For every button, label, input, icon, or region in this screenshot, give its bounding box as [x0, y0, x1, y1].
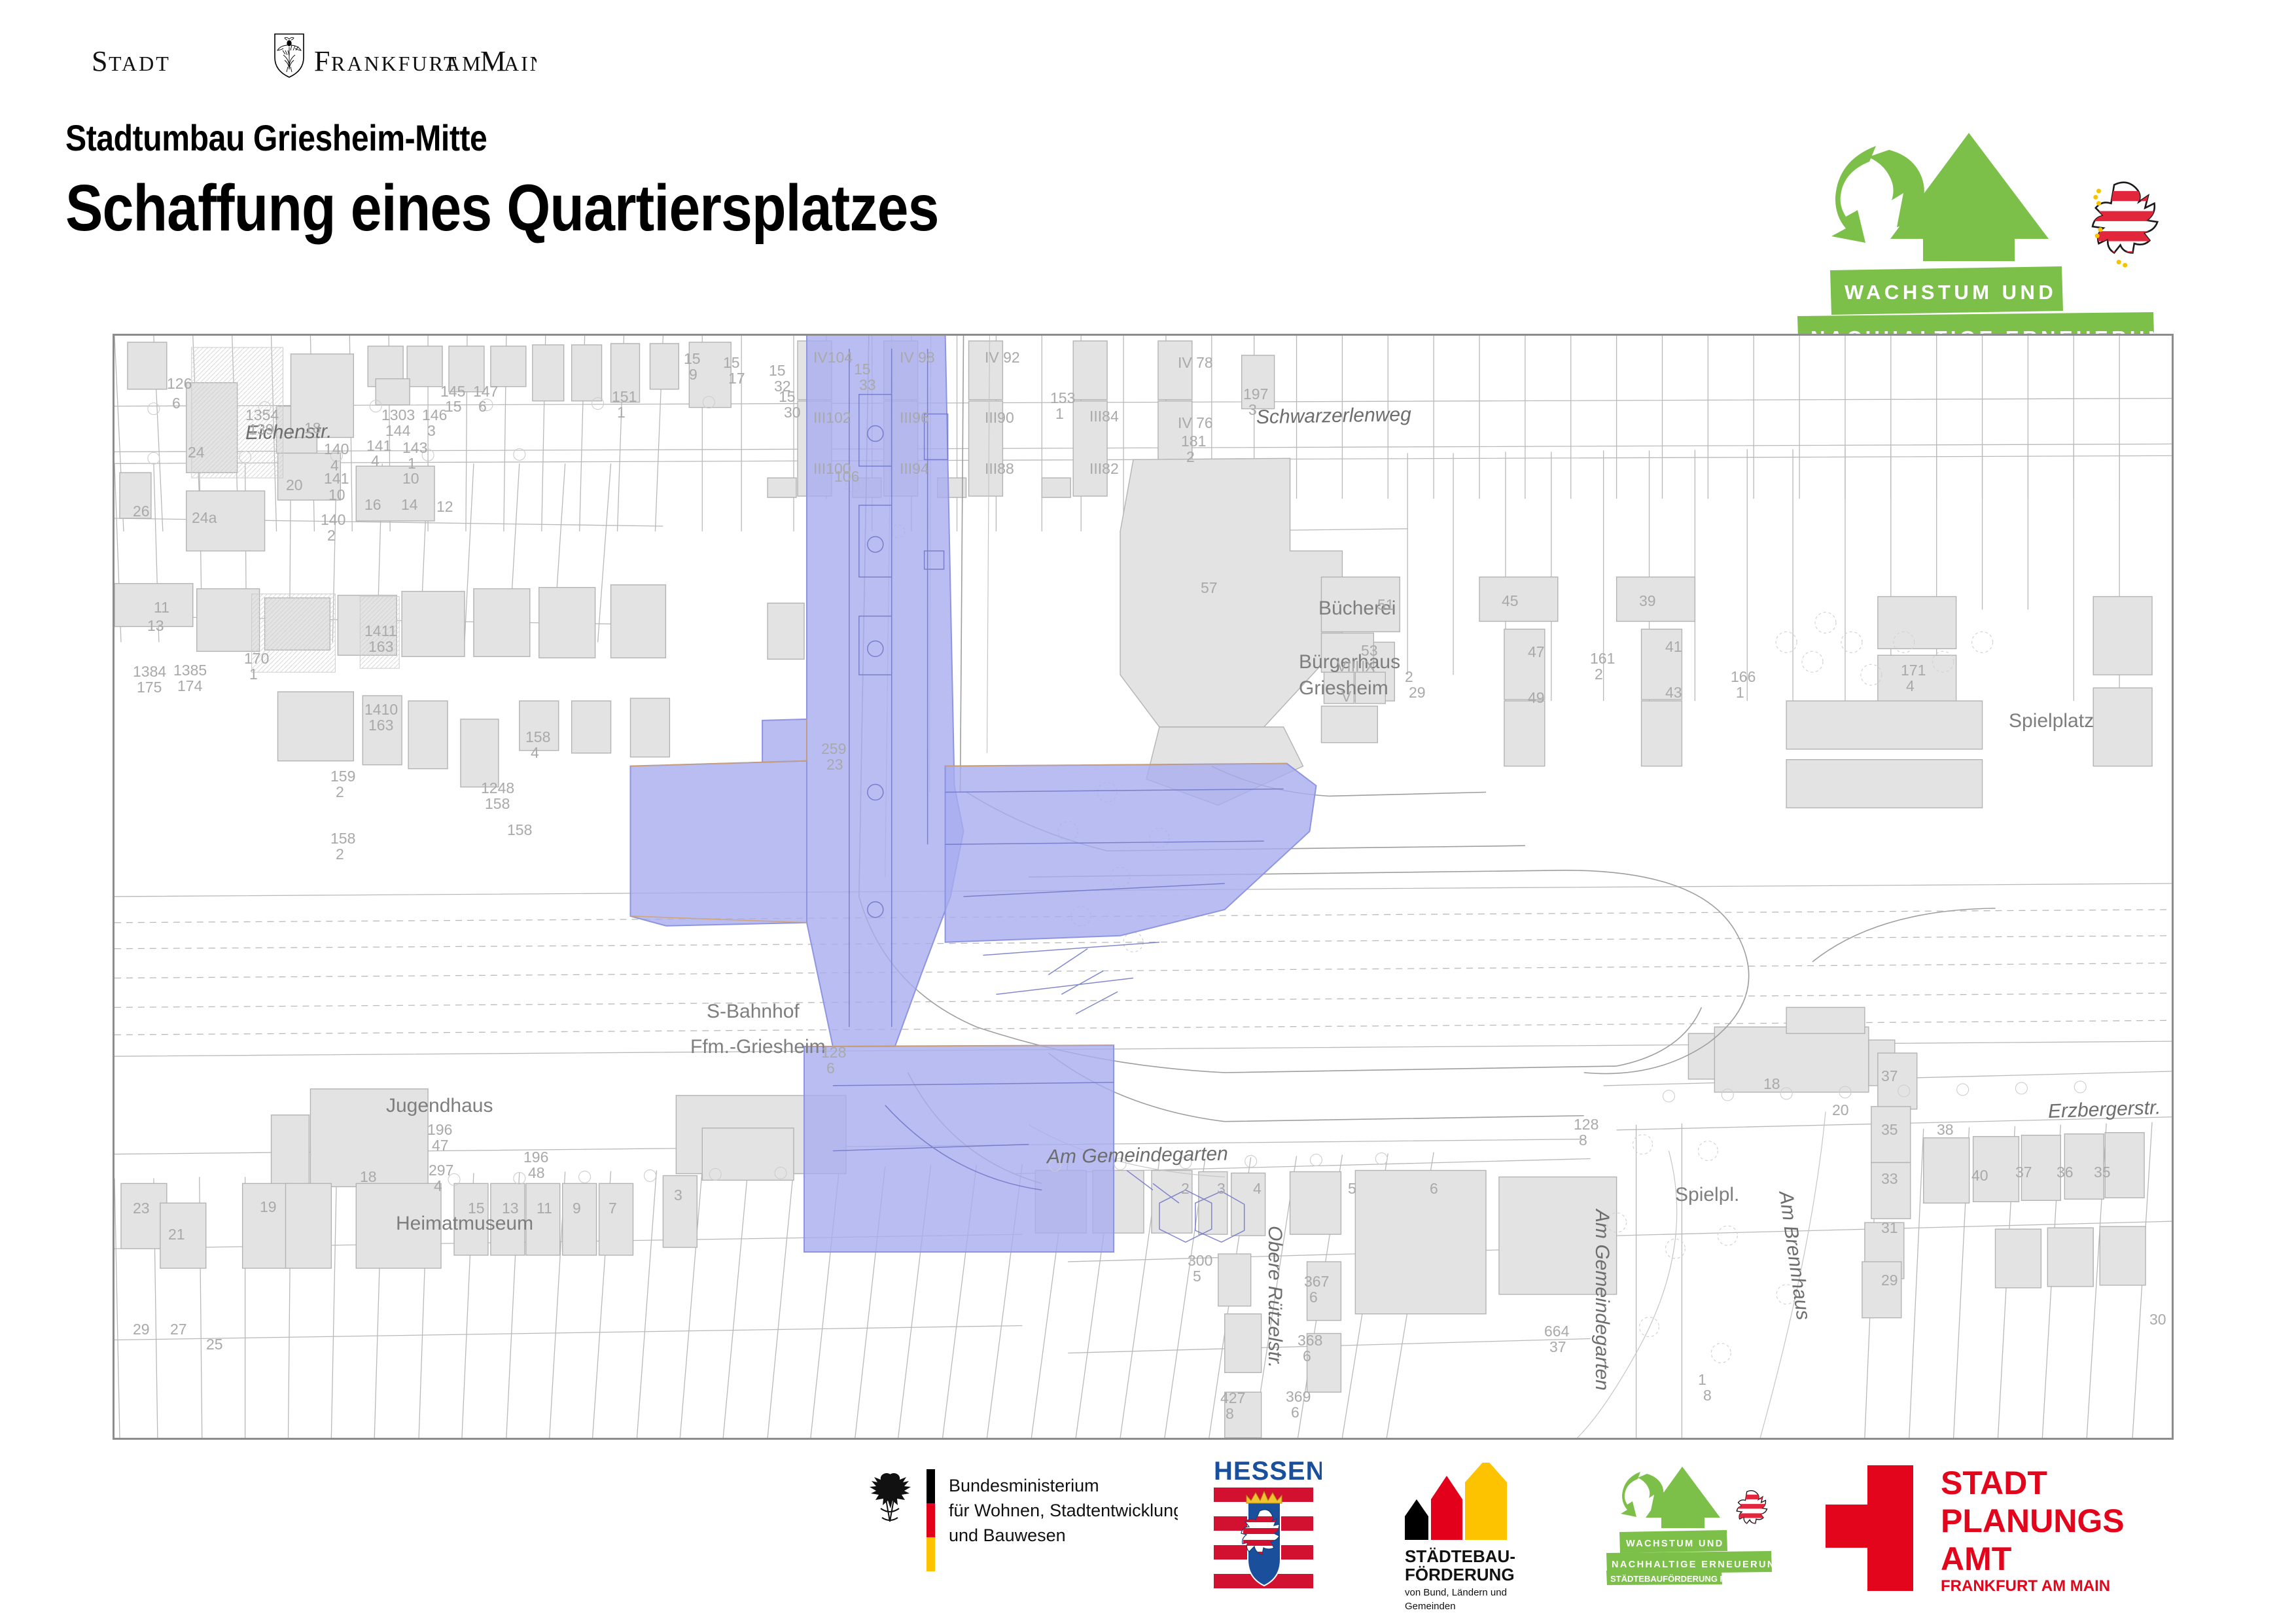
parcel-number: 161 — [1590, 650, 1615, 668]
parcel-number: 41 — [1665, 638, 1682, 656]
parcel-number: III82 — [1089, 460, 1119, 478]
parcel-number: 6 — [478, 398, 487, 416]
parcel-number: 4 — [1253, 1180, 1262, 1198]
parcel-number: 664 — [1544, 1323, 1569, 1340]
parcel-number: 37 — [2015, 1164, 2032, 1181]
parcel-number: 143 — [402, 439, 427, 457]
parcel-number: 4 — [1906, 677, 1915, 695]
parcel-number: 37 — [1549, 1338, 1566, 1356]
wachstum-logo-footer: WACHSTUM UND NACHHALTIGE ERNEUERUNG STÄD… — [1606, 1464, 1786, 1588]
parcel-number: 128 — [821, 1044, 846, 1061]
poi-label: Spielplatz — [2009, 710, 2094, 732]
parcel-number: 35 — [2094, 1164, 2111, 1181]
parcel-number: 2 — [327, 527, 336, 544]
parcel-number: 259 — [821, 740, 846, 758]
stadtplanungsamt-logo: STADT PLANUNGS AMT FRANKFURT AM MAIN — [1819, 1461, 2146, 1599]
street-label: Erzbergerstr. — [2047, 1097, 2161, 1123]
parcel-number: 15 — [769, 362, 786, 380]
parcel-number: 163 — [368, 638, 393, 656]
parcel-number: 6 — [1430, 1180, 1438, 1198]
parcel-number: 2 — [1181, 1180, 1190, 1198]
parcel-number: 53 — [1361, 642, 1378, 660]
parcel-number: 29 — [133, 1321, 150, 1338]
parcel-number: 45 — [1502, 592, 1519, 610]
parcel-number: 30 — [2149, 1311, 2166, 1329]
parcel-number: 1385 — [173, 662, 207, 679]
parcel-number: 146 — [422, 406, 447, 424]
title-block: Stadtumbau Griesheim-Mitte Schaffung ein… — [65, 116, 1081, 246]
parcel-number: 13 — [147, 617, 164, 635]
parcel-number: 13 — [502, 1200, 519, 1217]
parcel-number: 158 — [507, 821, 532, 839]
parcel-number: IV 92 — [985, 349, 1020, 366]
bmwsb-line3: und Bauwesen — [949, 1525, 1066, 1545]
cadastral-map[interactable]: Eichenstr. Schwarzerlenweg Erzbergerstr.… — [113, 334, 2174, 1440]
parcel-number: 12 — [436, 498, 453, 516]
svg-text:AM: AM — [445, 52, 483, 75]
parcel-number: III100 — [813, 460, 851, 478]
parcel-number: 158 — [330, 830, 355, 847]
parcel-number: 29 — [1409, 684, 1426, 702]
parcel-number: 5 — [1193, 1268, 1201, 1285]
parcel-number: 16 — [364, 496, 381, 514]
parcel-number: 32 — [774, 378, 791, 395]
parcel-number: 21 — [168, 1226, 185, 1243]
parcel-number: III102 — [813, 409, 851, 427]
parcel-number: 20 — [286, 476, 303, 494]
parcel-number: 163 — [368, 717, 393, 734]
parcel-number: III88 — [985, 460, 1014, 478]
parcel-number: III84 — [1089, 408, 1119, 425]
parcel-number: 1 — [1736, 684, 1744, 702]
parcel-number: 2 — [1186, 448, 1195, 466]
parcel-number: 153 — [1050, 389, 1075, 407]
parcel-number: 35 — [1881, 1121, 1898, 1139]
parcel-number: 11 — [154, 599, 169, 616]
staedtebaufoerderung-logo: STÄDTEBAU- FÖRDERUNG von Bund, Ländern u… — [1390, 1463, 1561, 1612]
parcel-number: 39 — [1639, 592, 1656, 610]
parcel-number: 1 — [1698, 1371, 1706, 1389]
wachstum-footer-line3: STÄDTEBAUFÖRDERUNG HESSEN — [1610, 1574, 1755, 1584]
parcel-number: 33 — [1881, 1170, 1898, 1188]
poi-label: S-Bahnhof — [707, 1001, 800, 1023]
spa-subline: FRANKFURT AM MAIN — [1941, 1577, 2110, 1595]
parcel-number: 18 — [304, 419, 321, 437]
map-drawing — [115, 336, 2172, 1438]
parcel-number: 29 — [1881, 1272, 1898, 1289]
parcel-number: 17 — [728, 370, 745, 387]
parcel-number: 6 — [1291, 1404, 1299, 1421]
parcel-number: 369 — [1286, 1388, 1311, 1406]
parcel-number: 3 — [1248, 401, 1257, 419]
parcel-number: 15 — [468, 1200, 485, 1217]
parcel-number: 23 — [826, 756, 843, 774]
parcel-number: 43 — [1665, 684, 1682, 702]
parcel-number: 9 — [573, 1200, 581, 1217]
parcel-number: 166 — [1731, 668, 1756, 686]
parcel-number: 1303 — [381, 406, 415, 424]
parcel-number: 26 — [133, 503, 150, 520]
parcel-number: 1410 — [364, 701, 398, 719]
parcel-number: 1248 — [481, 779, 514, 797]
parcel-number: 128 — [1574, 1116, 1598, 1133]
wachstum-footer-line2: NACHHALTIGE ERNEUERUNG — [1612, 1560, 1784, 1570]
parcel-number: 139 — [249, 421, 274, 438]
parcel-number: 140 — [321, 511, 345, 529]
parcel-number: 8 — [1226, 1405, 1234, 1423]
parcel-number: 3 — [1217, 1180, 1226, 1198]
parcel-number: IV 78 — [1178, 354, 1213, 372]
bmwsb-line1: Bundesministerium — [949, 1476, 1099, 1495]
parcel-number: 19 — [260, 1198, 277, 1216]
city-of-frankfurt-logo: S TADT F RANKFURT AM M AIN — [92, 31, 537, 79]
parcel-number: 368 — [1298, 1332, 1322, 1349]
street-label: Obere Rützelstr. — [1263, 1226, 1286, 1368]
svg-text:M: M — [480, 45, 506, 77]
parcel-number: 1 — [617, 404, 626, 421]
parcel-number: 5 — [1348, 1180, 1356, 1198]
parcel-number: 8 — [1579, 1132, 1587, 1149]
parcel-number: VIII — [1337, 658, 1360, 675]
parcel-number: 174 — [177, 677, 202, 695]
parcel-number: V — [1341, 688, 1351, 705]
parcel-number: 36 — [2057, 1164, 2074, 1181]
parcel-number: 196 — [427, 1121, 452, 1139]
svg-text:AIN: AIN — [504, 52, 537, 75]
svg-text:F: F — [314, 45, 330, 77]
bmwsb-line2: für Wohnen, Stadtentwicklung — [949, 1501, 1178, 1520]
parcel-number: 158 — [525, 728, 550, 746]
parcel-number: 4 — [531, 744, 539, 762]
parcel-number: 197 — [1243, 385, 1268, 403]
parcel-number: 6 — [172, 395, 181, 412]
spa-line1: STADT — [1941, 1465, 2047, 1501]
parcel-number: 40 — [1971, 1167, 1988, 1185]
spa-line2: PLANUNGS — [1941, 1503, 2125, 1539]
parcel-number: 48 — [528, 1164, 545, 1182]
street-label: Am Gemeindegarten — [1591, 1209, 1613, 1391]
wachstum-footer-line1: WACHSTUM UND — [1626, 1539, 1724, 1549]
parcel-number: 141 — [324, 470, 349, 488]
parcel-number: 297 — [429, 1162, 453, 1179]
parcel-number: 2 — [1595, 666, 1603, 683]
project-kicker: Stadtumbau Griesheim-Mitte — [65, 116, 939, 159]
parcel-number: 2 — [336, 846, 344, 863]
parcel-number: III94 — [900, 460, 929, 478]
svg-text:RANKFURT: RANKFURT — [331, 52, 459, 75]
parcel-number: 6 — [826, 1060, 835, 1077]
parcel-number: 57 — [1201, 579, 1218, 597]
parcel-number: 2 — [336, 783, 344, 801]
parcel-number: 47 — [432, 1137, 449, 1154]
parcel-number: 14 — [401, 496, 418, 514]
staedtebau-line1: STÄDTEBAU- — [1405, 1546, 1515, 1566]
parcel-number: 6 — [1309, 1289, 1318, 1306]
spa-line3: AMT — [1941, 1541, 2011, 1577]
parcel-number: 151 — [612, 388, 637, 406]
parcel-number: 140 — [324, 440, 349, 458]
parcel-number: 24 — [188, 444, 205, 461]
parcel-number: 18 — [360, 1168, 377, 1186]
staedtebau-line2: FÖRDERUNG — [1405, 1565, 1515, 1584]
parcel-number: 31 — [1881, 1219, 1898, 1237]
parcel-number: 196 — [523, 1149, 548, 1166]
hessen-state-logo: HESSEN — [1207, 1456, 1322, 1597]
staedtebau-sub2: Gemeinden — [1405, 1601, 1561, 1612]
street-label: Am Gemeindegarten — [1047, 1143, 1228, 1169]
funding-logos-footer: Bundesministerium für Wohnen, Stadtentwi… — [0, 1450, 2296, 1623]
parcel-number: 427 — [1220, 1389, 1245, 1407]
parcel-number: 30 — [784, 404, 801, 421]
parcel-number: 15 — [445, 398, 462, 416]
parcel-number: 7 — [609, 1200, 617, 1217]
poi-label: Spielpl. — [1675, 1184, 1739, 1206]
parcel-number: 126 — [167, 375, 192, 393]
poi-label: Jugendhaus — [386, 1095, 493, 1117]
parcel-number: 47 — [1528, 643, 1545, 661]
parcel-number: 37 — [1881, 1067, 1898, 1085]
parcel-number: 20 — [1832, 1101, 1849, 1119]
parcel-number: 15 — [723, 354, 740, 372]
parcel-number: 18 — [1763, 1075, 1780, 1093]
parcel-number: 159 — [330, 768, 355, 785]
parcel-number: III96 — [900, 409, 929, 427]
parcel-number: 1 — [249, 666, 258, 683]
parcel-number: 1 — [1055, 405, 1064, 423]
parcel-number: 4 — [434, 1177, 442, 1195]
parcel-number: 38 — [1937, 1121, 1954, 1139]
parcel-number: 15 — [684, 350, 701, 368]
poi-label: Ffm.-Griesheim — [690, 1036, 826, 1058]
parcel-number: 300 — [1188, 1252, 1212, 1270]
parcel-number: 175 — [137, 679, 162, 696]
parcel-number: 144 — [385, 422, 410, 440]
parcel-number: 15 — [854, 361, 871, 378]
parcel-number: 33 — [859, 376, 876, 394]
parcel-number: 1384 — [133, 663, 166, 681]
staedtebau-sub1: von Bund, Ländern und — [1405, 1587, 1507, 1597]
parcel-number: 23 — [133, 1200, 150, 1217]
parcel-number: 11 — [537, 1200, 552, 1217]
street-label: Schwarzerlenweg — [1256, 404, 1411, 429]
svg-text:S: S — [92, 45, 108, 77]
parcel-number: 2 — [1405, 668, 1413, 686]
parcel-number: 49 — [1528, 689, 1545, 707]
parcel-number: 1411 — [364, 622, 397, 640]
parcel-number: 24a — [192, 509, 217, 527]
wachstum-line1-text: WACHSTUM UND — [1845, 281, 2057, 304]
parcel-number: 8 — [1703, 1387, 1712, 1404]
parcel-number: 10 — [328, 486, 345, 504]
page-title: Schaffung eines Quartiersplatzes — [65, 171, 939, 246]
parcel-number: 4 — [371, 452, 380, 470]
parcel-number: 171 — [1901, 662, 1926, 679]
parcel-number: 51 — [1377, 596, 1394, 614]
parcel-number: III90 — [985, 409, 1014, 427]
parcel-number: 9 — [689, 366, 698, 383]
parcel-number: IV 98 — [900, 349, 935, 366]
parcel-number: 181 — [1181, 433, 1206, 450]
parcel-number: IV 76 — [1178, 414, 1213, 432]
parcel-number: 3 — [427, 422, 436, 440]
svg-text:TADT: TADT — [109, 52, 171, 75]
parcel-number: 10 — [402, 470, 419, 488]
parcel-number: 25 — [206, 1336, 223, 1353]
hessen-wordmark: HESSEN — [1214, 1457, 1322, 1486]
parcel-number: 6 — [1303, 1347, 1311, 1365]
parcel-number: 367 — [1304, 1273, 1329, 1291]
parcel-number: IX — [1361, 658, 1375, 675]
bmwsb-logo: Bundesministerium für Wohnen, Stadtentwi… — [864, 1461, 1178, 1586]
parcel-number: 158 — [485, 795, 510, 813]
parcel-number: 170 — [244, 650, 269, 668]
parcel-number: 3 — [674, 1186, 682, 1204]
parcel-number: IV104 — [813, 349, 853, 366]
parcel-number: 27 — [170, 1321, 187, 1338]
